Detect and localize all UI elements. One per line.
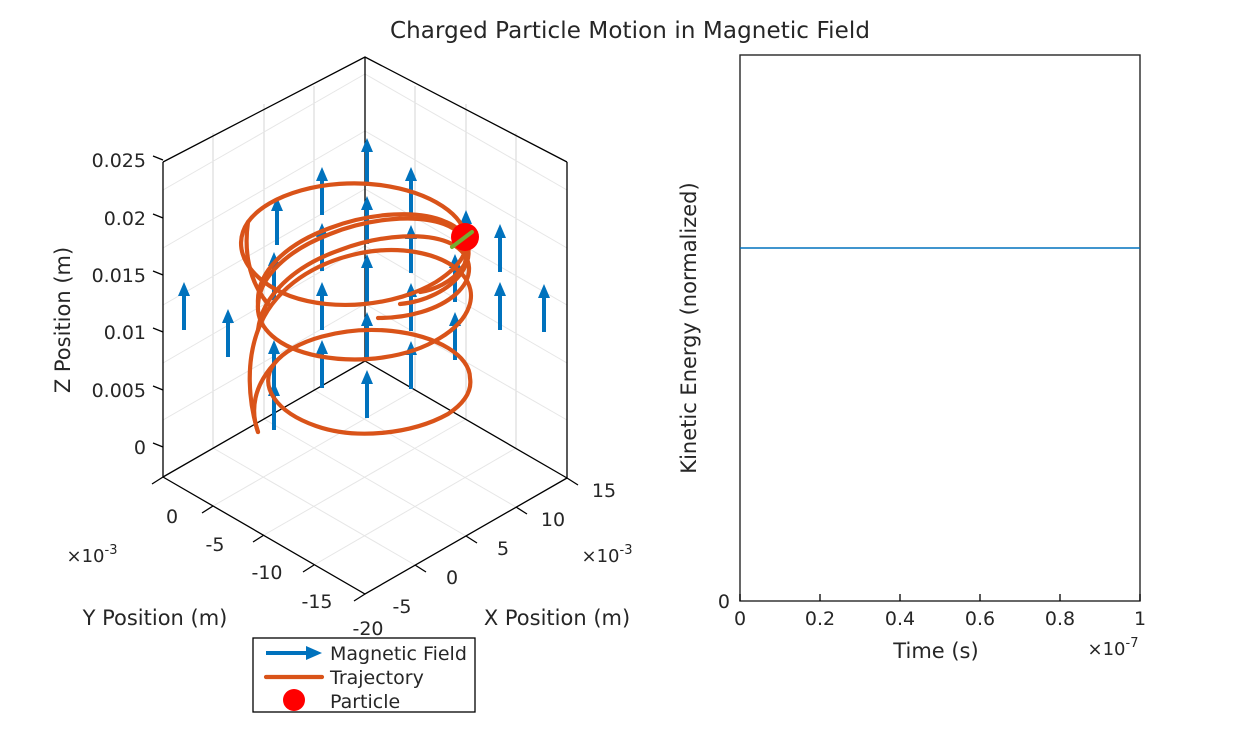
x-tick-4: 15: [592, 480, 616, 502]
y-tick-4: -20: [352, 618, 383, 640]
y-axis-title: Y Position (m): [82, 606, 228, 630]
legend-dot-icon: [283, 689, 305, 711]
ke-x-tick-4: 0.8: [1045, 608, 1075, 630]
ke-x-axis-title: Time (s): [892, 639, 978, 663]
ke-y-tick-0: 0: [718, 591, 730, 613]
ke-x-tick-5: 1: [1134, 608, 1146, 630]
legend-label-trajectory: Trajectory: [329, 667, 424, 689]
figure-canvas: Charged Particle Motion in Magnetic Fiel…: [0, 0, 1260, 750]
b-arrow: [178, 282, 190, 330]
x-tick-2: 5: [497, 538, 509, 560]
legend-3d: Magnetic Field Trajectory Particle: [253, 638, 475, 713]
z-tick-1: 0.005: [92, 380, 146, 402]
x-tick-1: 0: [446, 567, 458, 589]
ke-x-tick-2: 0.4: [885, 608, 915, 630]
ke-x-ticks: 0 0.2 0.4 0.6 0.8 1: [734, 594, 1146, 630]
ke-x-axis-exponent: ×10-7: [1088, 636, 1139, 660]
axes-kinetic-energy: 0 0.2 0.4 0.6 0.8 1 0 ×10-7 Time (s) Kin…: [677, 55, 1146, 663]
b-arrow: [222, 309, 234, 357]
b-arrow: [271, 197, 283, 245]
ke-y-axis-title: Kinetic Energy (normalized): [677, 182, 701, 473]
b-arrow: [361, 254, 373, 302]
figure-svg: 0 0.005 0.01 0.015 0.02 0.025 0 -5 -10 -…: [0, 0, 1260, 750]
b-arrow: [361, 312, 373, 360]
z-tick-2: 0.01: [104, 322, 146, 344]
y-tick-1: -5: [206, 534, 225, 556]
ke-plot-frame: [740, 55, 1140, 601]
ke-x-tick-3: 0.6: [965, 608, 995, 630]
y-tick-3: -15: [301, 591, 332, 613]
axes-3d: 0 0.005 0.01 0.015 0.02 0.025 0 -5 -10 -…: [51, 57, 632, 713]
y-tick-2: -10: [251, 562, 282, 584]
b-arrow: [494, 224, 506, 272]
ke-x-tick-1: 0.2: [805, 608, 835, 630]
ke-x-tick-0: 0: [734, 608, 746, 630]
b-arrow: [494, 282, 506, 330]
z-tick-4: 0.02: [104, 208, 146, 230]
x-axis-title: X Position (m): [484, 606, 630, 630]
z-axis-ticks: 0 0.005 0.01 0.015 0.02 0.025: [92, 150, 163, 459]
z-tick-3: 0.015: [92, 265, 146, 287]
y-tick-0: 0: [166, 506, 178, 528]
b-arrow: [316, 167, 328, 215]
legend-label-magnetic-field: Magnetic Field: [330, 643, 467, 665]
z-axis-title: Z Position (m): [51, 247, 75, 393]
b-arrow: [538, 284, 550, 332]
x-tick-0: -5: [393, 596, 412, 618]
y-axis-ticks: 0 -5 -10 -15 -20 ×10-3 Y Position (m): [67, 477, 384, 640]
z-tick-0: 0: [134, 437, 146, 459]
z-tick-5: 0.025: [92, 150, 146, 172]
b-arrow: [361, 370, 373, 418]
b-arrow: [316, 340, 328, 388]
y-axis-exponent: ×10-3: [67, 543, 118, 567]
x-axis-exponent: ×10-3: [582, 543, 633, 567]
x-axis-ticks: -5 0 5 10 15 ×10-3 X Position (m): [393, 478, 633, 630]
particle-marker: [451, 223, 479, 251]
legend-label-particle: Particle: [330, 691, 400, 713]
ke-y-ticks: 0: [718, 591, 730, 613]
b-arrow: [361, 138, 373, 186]
x-tick-3: 10: [541, 509, 565, 531]
